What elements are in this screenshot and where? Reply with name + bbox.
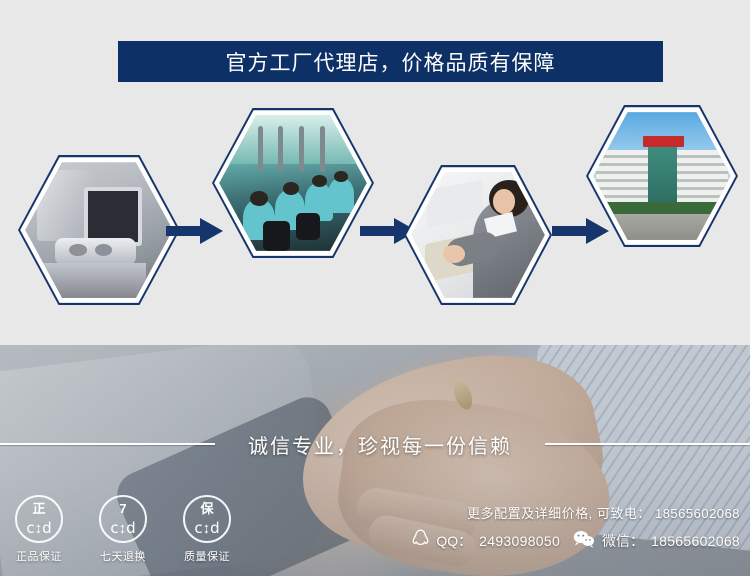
- qq-number: 2493098050: [479, 533, 560, 549]
- badge-label: 质量保证: [176, 548, 238, 564]
- badge-label: 正品保证: [8, 548, 70, 564]
- hex-photo-clip: [219, 115, 367, 251]
- hex-inner-gap: [588, 107, 736, 245]
- hex-photo-clip: [411, 172, 545, 298]
- company-building-photo: [593, 112, 731, 240]
- process-step-factory[interactable]: [212, 108, 374, 258]
- trust-banner-section: 诚信专业，珍视每一份信赖 正 ⅽ↕ⅾ 正品保证 7 ⅽ↕ⅾ 七天退换 保 ⅽ↕ⅾ…: [0, 345, 750, 576]
- slogan-text: 诚信专业，珍视每一份信赖: [215, 430, 545, 459]
- hands-holding-icon: 保 ⅽ↕ⅾ: [183, 495, 231, 543]
- qq-penguin-icon: [412, 529, 429, 552]
- hands-holding-icon: 7 ⅽ↕ⅾ: [99, 495, 147, 543]
- qq-label: QQ：: [436, 531, 472, 551]
- hex-border: [586, 105, 738, 247]
- contact-block: 更多配置及详细价格, 可致电： 18565602068 QQ： 24930980…: [320, 503, 740, 552]
- slogan-rule-right: [545, 443, 750, 445]
- page-title: 官方工厂代理店，价格品质有保障: [226, 47, 556, 77]
- hex-border: [18, 155, 180, 305]
- slogan-row: 诚信专业，珍视每一份信赖: [0, 431, 750, 457]
- hex-photo-clip: [25, 162, 173, 298]
- hands-glyph: ⅽ↕ⅾ: [17, 522, 61, 536]
- factory-photo: [219, 115, 367, 251]
- equipment-photo: [25, 162, 173, 298]
- contact-im-line: QQ： 2493098050 微信： 18565602068: [320, 529, 740, 552]
- office-service-photo: [411, 172, 545, 298]
- wechat-label: 微信：: [602, 531, 644, 551]
- contact-phone-line: 更多配置及详细价格, 可致电： 18565602068: [320, 503, 740, 522]
- badge-glyph: 保: [185, 501, 229, 517]
- badge-glyph: 正: [17, 501, 61, 517]
- process-step-company-building[interactable]: [586, 105, 738, 247]
- hex-inner-gap: [20, 157, 178, 303]
- hands-glyph: ⅽ↕ⅾ: [185, 522, 229, 536]
- hex-inner-gap: [406, 167, 550, 303]
- header-banner: 官方工厂代理店，价格品质有保障: [118, 41, 663, 82]
- hands-holding-icon: 正 ⅽ↕ⅾ: [15, 495, 63, 543]
- process-step-office-service[interactable]: [404, 165, 552, 305]
- process-hexagon-row: [0, 95, 750, 330]
- badge-label: 七天退换: [92, 548, 154, 564]
- wechat-icon: [573, 530, 595, 551]
- wechat-number: 18565602068: [651, 533, 740, 549]
- trust-badge-quality[interactable]: 保 ⅽ↕ⅾ 质量保证: [176, 495, 238, 564]
- slogan-rule-left: [0, 443, 215, 445]
- hands-glyph: ⅽ↕ⅾ: [101, 522, 145, 536]
- hex-border: [404, 165, 552, 305]
- trust-badge-list: 正 ⅽ↕ⅾ 正品保证 7 ⅽ↕ⅾ 七天退换 保 ⅽ↕ⅾ 质量保证: [8, 495, 238, 564]
- process-step-equipment[interactable]: [18, 155, 180, 305]
- trust-badge-authentic[interactable]: 正 ⅽ↕ⅾ 正品保证: [8, 495, 70, 564]
- trust-badge-seven-day-return[interactable]: 7 ⅽ↕ⅾ 七天退换: [92, 495, 154, 564]
- badge-glyph: 7: [101, 501, 145, 517]
- top-section: 官方工厂代理店，价格品质有保障: [0, 0, 750, 345]
- hex-border: [212, 108, 374, 258]
- hex-photo-clip: [593, 112, 731, 240]
- hex-inner-gap: [214, 110, 372, 256]
